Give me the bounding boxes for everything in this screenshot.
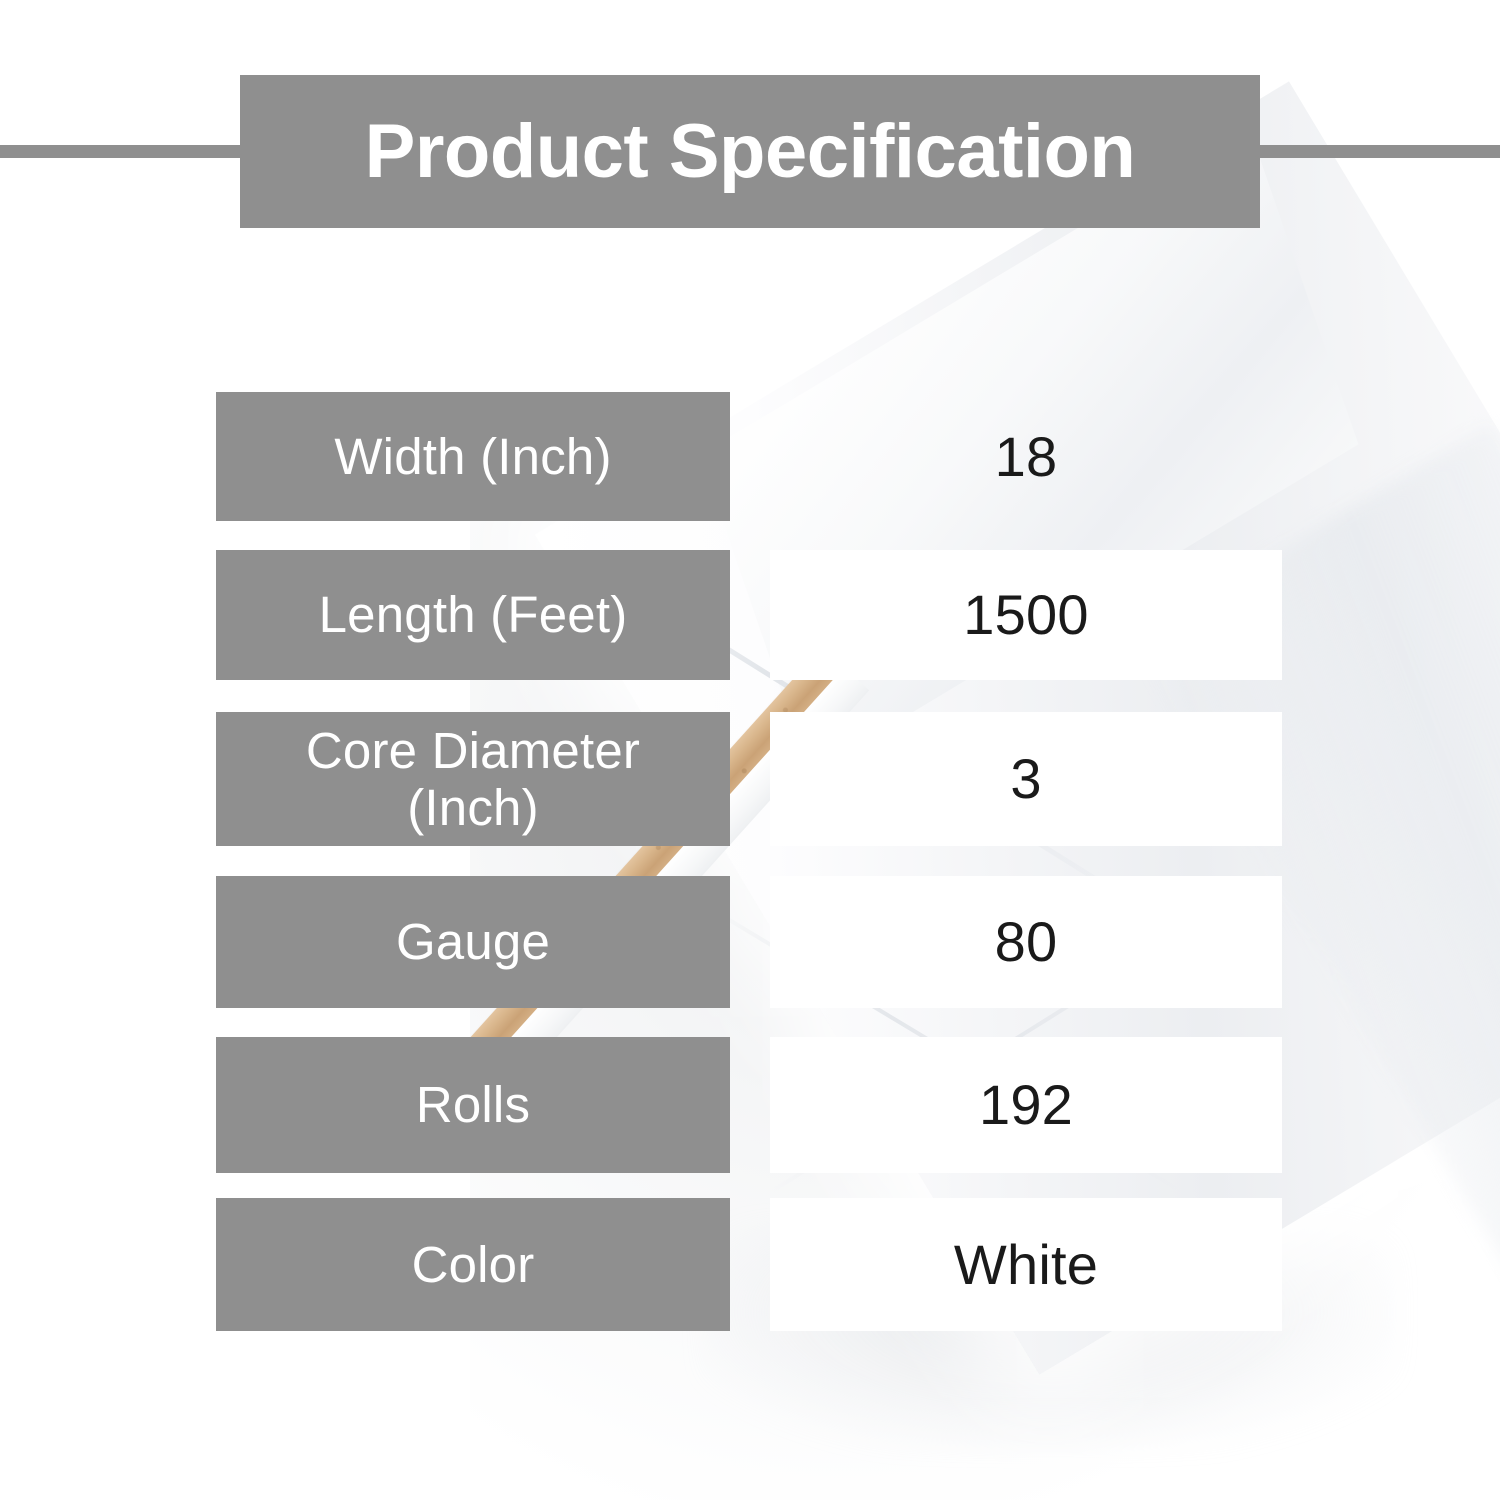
spec-value-text: 3 [1010, 748, 1041, 810]
spec-label-cell: Gauge [216, 876, 730, 1008]
spec-label-text: Color [412, 1236, 535, 1293]
spec-value-text: White [954, 1234, 1098, 1296]
spec-value-text: 18 [995, 426, 1058, 488]
spec-value-text: 192 [979, 1074, 1073, 1136]
spec-label-cell: Rolls [216, 1037, 730, 1173]
spec-value-cell: 1500 [770, 550, 1282, 680]
spec-label-cell: Core Diameter(Inch) [216, 712, 730, 846]
spec-value-cell: 192 [770, 1037, 1282, 1173]
product-specification-page: Product Specification Width (Inch)18Leng… [0, 0, 1500, 1500]
spec-label-cell: Length (Feet) [216, 550, 730, 680]
spec-value-cell: 18 [770, 392, 1282, 521]
specification-table: Width (Inch)18Length (Feet)1500Core Diam… [0, 0, 1500, 1500]
spec-label-cell: Color [216, 1198, 730, 1331]
spec-label-text: Rolls [416, 1076, 530, 1133]
spec-value-cell: White [770, 1198, 1282, 1331]
spec-label-text: Gauge [396, 913, 550, 970]
spec-label-cell: Width (Inch) [216, 392, 730, 521]
spec-label-text: Width (Inch) [334, 428, 611, 485]
spec-label-text: Core Diameter(Inch) [306, 722, 640, 836]
spec-label-text: Length (Feet) [319, 586, 628, 643]
spec-value-text: 80 [995, 911, 1058, 973]
spec-value-text: 1500 [963, 584, 1088, 646]
spec-value-cell: 3 [770, 712, 1282, 846]
spec-value-cell: 80 [770, 876, 1282, 1008]
